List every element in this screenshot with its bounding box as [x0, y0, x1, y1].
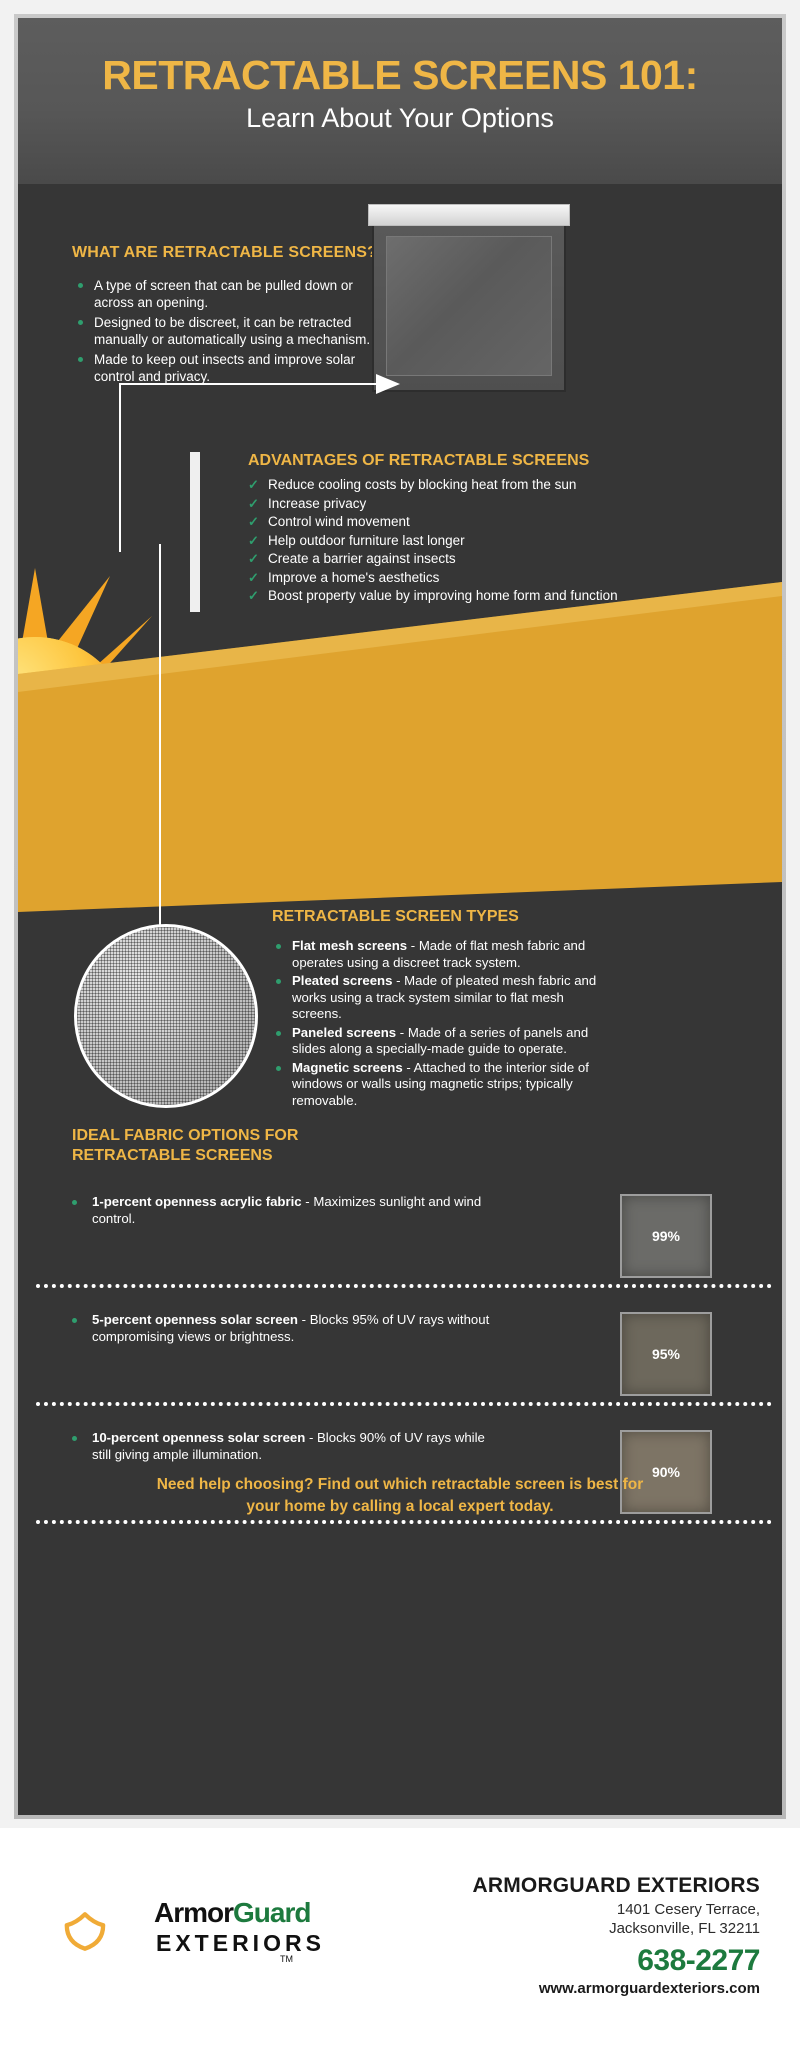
list-item: ✓Control wind movement	[248, 513, 620, 532]
poster-body: WHAT ARE RETRACTABLE SCREENS? A type of …	[18, 184, 782, 1815]
fabric-swatch-label: 99%	[652, 1228, 680, 1244]
cta-line1: Need help choosing? Find out which retra…	[78, 1474, 722, 1496]
website-url[interactable]: www.armorguardexteriors.com	[340, 1980, 760, 1997]
list-item: A type of screen that can be pulled down…	[72, 277, 392, 311]
section-fabric-title-line1: IDEAL FABRIC OPTIONS FOR	[72, 1126, 372, 1146]
fabric-row-text: 1-percent openness acrylic fabric - Maxi…	[72, 1194, 492, 1227]
screen-housing	[368, 204, 570, 226]
section-screen-types: RETRACTABLE SCREEN TYPES Flat mesh scree…	[272, 908, 602, 1111]
leader-line	[158, 544, 162, 926]
call-to-action: Need help choosing? Find out which retra…	[78, 1474, 722, 1518]
logo-guard: Guard	[233, 1897, 310, 1928]
retractable-screen-window-illustration	[374, 212, 564, 390]
check-icon: ✓	[248, 569, 259, 588]
list-item-label: Help outdoor furniture last longer	[268, 533, 465, 548]
list-item: ✓Create a barrier against insects	[248, 550, 620, 569]
list-item: Pleated screens - Made of pleated mesh f…	[272, 973, 602, 1023]
section-types-title: RETRACTABLE SCREEN TYPES	[272, 908, 602, 926]
logo-exteriors: EXTERIORS	[156, 1930, 325, 1956]
check-icon: ✓	[248, 495, 259, 514]
fabric-swatch: 99%	[620, 1194, 712, 1278]
list-item: Paneled screens - Made of a series of pa…	[272, 1025, 602, 1058]
cta-line2: your home by calling a local expert toda…	[78, 1496, 722, 1518]
type-name: Flat mesh screens	[292, 938, 407, 953]
logo[interactable]: ArmorGuard EXTERIORS TM	[62, 1892, 292, 1970]
company-name: ARMORGUARD EXTERIORS	[340, 1874, 760, 1898]
section-advantages: ADVANTAGES OF RETRACTABLE SCREENS ✓Reduc…	[190, 452, 620, 606]
section-fabric-title: IDEAL FABRIC OPTIONS FOR RETRACTABLE SCR…	[72, 1126, 372, 1166]
page-title: RETRACTABLE SCREENS 101:	[18, 52, 782, 98]
divider	[36, 1284, 772, 1288]
type-name: Magnetic screens	[292, 1060, 403, 1075]
footer: ArmorGuard EXTERIORS TM ARMORGUARD EXTER…	[0, 1828, 800, 2065]
panel-edge	[190, 452, 200, 612]
list-item: ✓Boost property value by improving home …	[248, 587, 620, 606]
type-name: Paneled screens	[292, 1025, 396, 1040]
list-item: Made to keep out insects and improve sol…	[72, 351, 392, 385]
list-item-label: Control wind movement	[268, 514, 410, 529]
infographic-page: RETRACTABLE SCREENS 101: Learn About You…	[0, 0, 800, 2065]
check-icon: ✓	[248, 550, 259, 569]
check-icon: ✓	[248, 476, 259, 495]
address-line2: Jacksonville, FL 32211	[340, 1919, 760, 1938]
poster-board: RETRACTABLE SCREENS 101: Learn About You…	[18, 18, 782, 1815]
list-item-label: Boost property value by improving home f…	[268, 588, 618, 603]
list-item: ✓Reduce cooling costs by blocking heat f…	[248, 476, 620, 495]
check-icon: ✓	[248, 587, 259, 606]
section-what-are-retractable-screens: WHAT ARE RETRACTABLE SCREENS? A type of …	[72, 242, 392, 388]
fabric-row-text: 10-percent openness solar screen - Block…	[72, 1430, 492, 1463]
section-what-bullet-list: A type of screen that can be pulled down…	[72, 277, 392, 385]
address-line1: 1401 Cesery Terrace,	[340, 1900, 760, 1919]
header-banner: RETRACTABLE SCREENS 101: Learn About You…	[18, 18, 782, 184]
fabric-name: 10-percent openness solar screen	[92, 1430, 305, 1445]
types-list: Flat mesh screens - Made of flat mesh fa…	[272, 938, 602, 1109]
section-what-title: WHAT ARE RETRACTABLE SCREENS?	[72, 242, 392, 263]
check-icon: ✓	[248, 532, 259, 551]
list-item: ✓Help outdoor furniture last longer	[248, 532, 620, 551]
page-subtitle: Learn About Your Options	[18, 102, 782, 134]
contact-block: ARMORGUARD EXTERIORS 1401 Cesery Terrace…	[340, 1874, 760, 1997]
divider	[36, 1402, 772, 1406]
screen-pane	[386, 236, 552, 376]
address: 1401 Cesery Terrace, Jacksonville, FL 32…	[340, 1900, 760, 1938]
fabric-name: 5-percent openness solar screen	[92, 1312, 298, 1327]
logo-wordmark: ArmorGuard	[154, 1898, 310, 1928]
logo-trademark: TM	[280, 1954, 293, 1964]
list-item-label: Create a barrier against insects	[268, 551, 456, 566]
fabric-name: 1-percent openness acrylic fabric	[92, 1194, 302, 1209]
mesh-texture	[77, 927, 255, 1105]
section-advantages-title: ADVANTAGES OF RETRACTABLE SCREENS	[248, 452, 620, 470]
list-item: Flat mesh screens - Made of flat mesh fa…	[272, 938, 602, 971]
gold-band	[18, 582, 782, 912]
list-item-label: Increase privacy	[268, 496, 366, 511]
poster-frame: RETRACTABLE SCREENS 101: Learn About You…	[14, 14, 786, 1819]
mesh-fabric-swatch	[74, 924, 258, 1108]
fabric-swatch-label: 95%	[652, 1346, 680, 1362]
type-name: Pleated screens	[292, 973, 392, 988]
list-item: Designed to be discreet, it can be retra…	[72, 314, 392, 348]
list-item: Magnetic screens - Attached to the inter…	[272, 1060, 602, 1110]
list-item-label: Improve a home's aesthetics	[268, 570, 439, 585]
check-icon: ✓	[248, 513, 259, 532]
list-item: ✓Increase privacy	[248, 495, 620, 514]
advantages-list: ✓Reduce cooling costs by blocking heat f…	[248, 476, 620, 606]
fabric-row-text: 5-percent openness solar screen - Blocks…	[72, 1312, 492, 1345]
sun-icon	[18, 568, 200, 898]
divider	[36, 1520, 772, 1524]
section-fabric-title-line2: RETRACTABLE SCREENS	[72, 1146, 372, 1166]
phone-number[interactable]: 638-2277	[340, 1944, 760, 1978]
list-item-label: Reduce cooling costs by blocking heat fr…	[268, 477, 576, 492]
list-item: ✓Improve a home's aesthetics	[248, 569, 620, 588]
fabric-swatch: 95%	[620, 1312, 712, 1396]
logo-armor: Armor	[154, 1897, 233, 1928]
